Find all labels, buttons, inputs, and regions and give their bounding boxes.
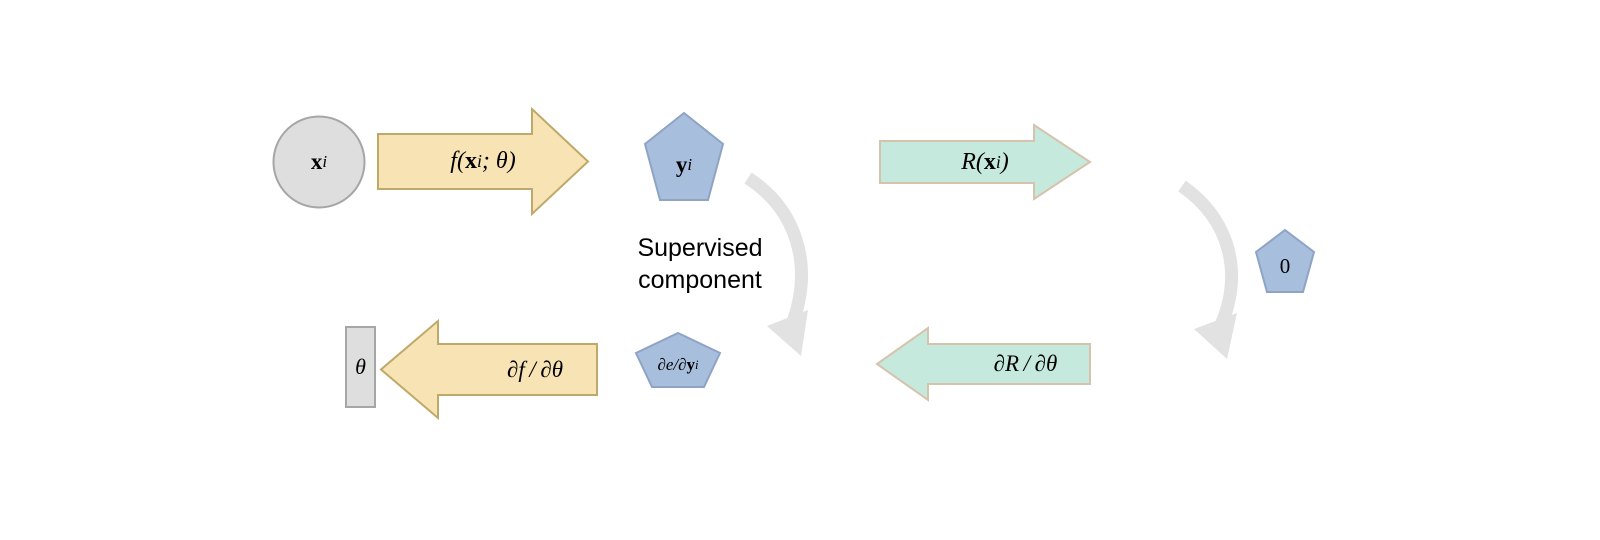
circle-shape [272,115,366,209]
supervised-component-label: Supervised component [600,232,800,296]
grad-pentagon-node[interactable]: ∂e/∂yi [634,331,722,389]
grad-f-theta-arrow[interactable]: ∂f / ∂θ [380,320,598,419]
input-circle-node[interactable]: xi [272,115,366,209]
pentagon-shape [634,331,722,389]
supervised-line-1: Supervised [637,234,762,262]
theta-box-node[interactable]: θ [345,326,376,408]
residual-arrow[interactable]: R(xi) [879,124,1091,200]
forward-model-arrow[interactable]: f(xi; θ) [377,108,589,215]
rectangle-shape [345,326,376,408]
supervised-line-2: component [638,266,762,294]
grad-r-theta-arrow[interactable]: ∂R / ∂θ [876,327,1091,401]
residual-feedback-curve [1165,180,1265,360]
arrow-right-shape [377,108,589,215]
arrow-left-shape [380,320,598,419]
output-pentagon-node[interactable]: yi [643,111,725,203]
diagram-canvas: xi f(xi; θ) yi R(xi) 0 [0,0,1600,540]
arrow-left-shape [876,327,1091,401]
pentagon-shape [643,111,725,203]
arrow-right-shape [879,124,1091,200]
